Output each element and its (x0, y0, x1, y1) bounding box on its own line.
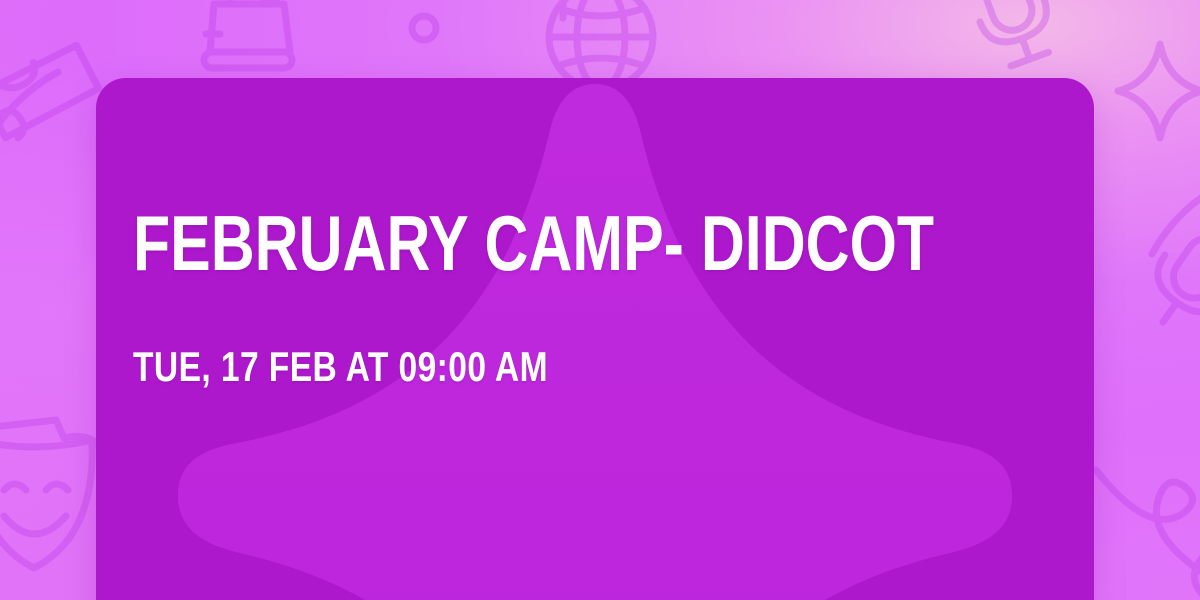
event-title: FEBRUARY CAMP- DIDCOT (133, 204, 934, 282)
event-card[interactable]: FEBRUARY CAMP- DIDCOT TUE, 17 FEB AT 09:… (96, 78, 1094, 600)
fireworks-icon (0, 56, 80, 166)
ribbon-icon (1142, 176, 1200, 266)
circle-dot-icon (404, 8, 444, 48)
podium-laptop-icon (180, 0, 310, 80)
pin-icon (548, 0, 578, 46)
sparkle-icon (1110, 36, 1200, 146)
microphone-icon (950, 0, 1100, 74)
event-banner: FEBRUARY CAMP- DIDCOT TUE, 17 FEB AT 09:… (0, 0, 1200, 600)
balloon-icon (1090, 450, 1200, 600)
event-datetime: TUE, 17 FEB AT 09:00 AM (133, 346, 548, 388)
